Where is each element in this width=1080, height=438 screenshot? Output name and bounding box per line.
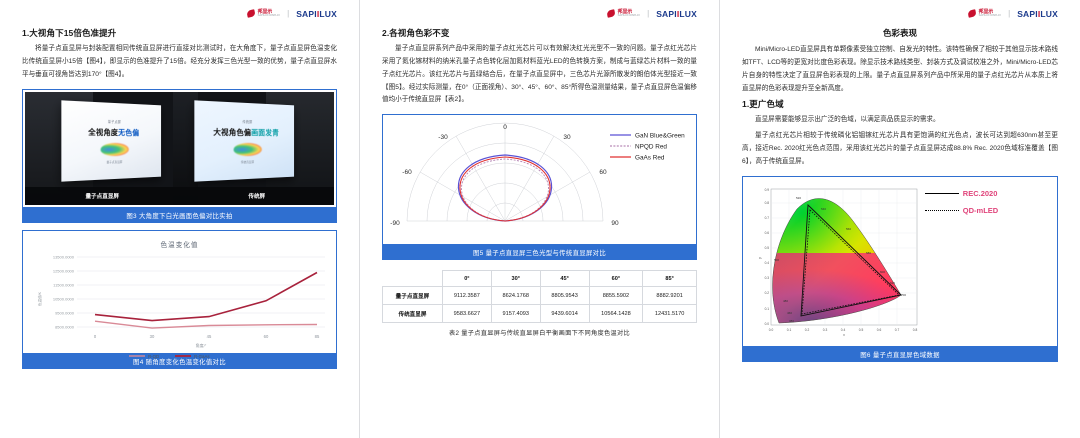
wl-label-560: 560 — [846, 227, 851, 231]
y-tick-2: 10500.0000 — [53, 296, 75, 301]
cct-angle-table: 0° 30° 45° 60° 85° 量子点直显屏 9112.3587 8624… — [382, 270, 697, 323]
cie-y-axis-label: y — [758, 257, 762, 259]
cell-trad-4: 12431.5170 — [643, 305, 697, 323]
figure-6-chart: 520 540 560 580 600 620 700 500 480 460 … — [745, 179, 1055, 344]
cell-trad-3: 10564.1428 — [589, 305, 643, 323]
cie-y-tick-8: 0.9 — [765, 188, 770, 192]
cell-qd-3: 8855.5902 — [589, 287, 643, 305]
figure-3: 量子点屏 全视角度无色偏 量子点直显屏 传统屏 大视角色偏画面发青 传统直显屏 … — [22, 89, 337, 223]
company-name-cn-3: 邦显示 SAPILUX DISPLAY — [979, 10, 1001, 18]
table-header-blank — [383, 271, 443, 287]
cie-x-tick-6: 0.6 — [877, 328, 882, 332]
cie-legend: REC.2020 QD-mLED — [925, 179, 1055, 344]
cie-legend-item-rec2020: REC.2020 — [925, 189, 1055, 198]
table-header-85deg: 85° — [643, 271, 697, 287]
cie-x-tick-5: 0.5 — [859, 328, 864, 332]
cell-qd-4: 8882.9201 — [643, 287, 697, 305]
table-header-60deg: 60° — [589, 271, 643, 287]
brand-header: 邦显示 SAPILUX DISPLAY | SAPIILUX — [22, 6, 337, 21]
table-header-30deg: 30° — [491, 271, 540, 287]
screen-qd-color-blob — [100, 142, 128, 155]
figure-6: 520 540 560 580 600 620 700 500 480 460 … — [742, 176, 1058, 362]
cie-y-tick-2: 0.3 — [765, 276, 770, 280]
brand-wordmark-3: SAPIILUX — [1017, 9, 1058, 19]
x-tick-2: 45 — [207, 334, 212, 339]
company-logo-2: 邦显示 SAPILUX DISPLAY — [607, 9, 640, 18]
section-subheading-3: 1.更广色域 — [742, 98, 1058, 110]
cie-y-tick-3: 0.4 — [765, 261, 770, 265]
wl-label-600: 600 — [880, 270, 885, 274]
figure-3-photo: 量子点屏 全视角度无色偏 量子点直显屏 传统屏 大视角色偏画面发青 传统直显屏 … — [25, 92, 334, 205]
cie-y-tick-6: 0.7 — [765, 216, 770, 220]
polar-tick-neg90: -90 — [390, 220, 400, 227]
screen-qd-small-label: 量子点屏 — [108, 118, 121, 123]
wl-label-700: 700 — [901, 293, 906, 297]
legend-label-r-qd: R-QD — [148, 354, 159, 359]
polar-tick-neg30: -30 — [438, 134, 448, 141]
brand-wordmark: SAPIILUX — [296, 9, 337, 19]
document-page-1: 邦显示 SAPILUX DISPLAY | SAPIILUX 1.大视角下15倍… — [0, 0, 360, 438]
cie-x-axis-label: x — [843, 333, 845, 337]
figure-3-caption: 图3 大角度下白光画面色偏对比实拍 — [22, 208, 337, 223]
legend-label-gaas: GaAs Red — [635, 155, 665, 162]
figure-3-frame: 量子点屏 全视角度无色偏 量子点直显屏 传统屏 大视角色偏画面发青 传统直显屏 … — [22, 89, 337, 208]
x-tick-1: 30 — [150, 334, 155, 339]
polar-tick-30: 30 — [563, 134, 571, 141]
cie-y-tick-5: 0.6 — [765, 231, 770, 235]
legend-label-r-gaas: R-GaAs — [194, 354, 210, 359]
cie-x-tick-2: 0.2 — [805, 328, 810, 332]
table-2: 0° 30° 45° 60° 85° 量子点直显屏 9112.3587 8624… — [382, 270, 697, 339]
swoosh-icon — [968, 9, 977, 18]
screen-trad-color-blob — [233, 142, 261, 155]
photo-label-qd: 量子点直显屏 — [25, 192, 180, 200]
cie-y-tick-1: 0.2 — [765, 291, 770, 295]
legend-label-gan: GaN Blue&Green — [635, 133, 685, 140]
table-header-45deg: 45° — [540, 271, 589, 287]
x-tick-3: 60 — [264, 334, 269, 339]
cie-y-tick-7: 0.8 — [765, 201, 770, 205]
cct-line-chart-svg: 13500.0000 12500.0000 11500.0000 10500.0… — [25, 249, 337, 349]
wl-label-460: 460 — [787, 311, 792, 315]
figure-4-frame: 色温变化值 13500.0000 12500.0000 11500.0000 — [22, 230, 337, 354]
cie-plot-area: 520 540 560 580 600 620 700 500 480 460 … — [745, 179, 925, 344]
figure-4: 色温变化值 13500.0000 12500.0000 11500.0000 — [22, 230, 337, 369]
screen-qd-headline: 全视角度无色偏 — [88, 126, 139, 138]
section-paragraph-1: 将量子点直显屏与封装配置相同传统直显屏进行直接对比测试时，在大角度下，量子点直显… — [22, 43, 337, 82]
polar-chart-svg: -90 -60 -30 0 30 60 90 GaN Blue&Green — [385, 117, 695, 238]
photo-screen-traditional: 传统屏 大视角色偏画面发青 传统直显屏 — [194, 100, 294, 181]
wl-label-380: 380 — [789, 319, 794, 323]
x-tick-4: 85 — [315, 334, 320, 339]
wl-label-480: 480 — [783, 299, 788, 303]
cie-x-tick-4: 0.4 — [841, 328, 846, 332]
polar-legend: GaN Blue&Green NPQD Red GaAs Red — [610, 133, 685, 162]
legend-label-npqd: NPQD Red — [635, 144, 667, 151]
cell-trad-2: 9439.6014 — [540, 305, 589, 323]
polar-tick-0: 0 — [503, 124, 507, 131]
section-paragraph-3b: 直显屏需要能够显示出广泛的色域，以满足高品质显示的需求。 — [742, 114, 1058, 127]
legend-label-rec2020: REC.2020 — [963, 189, 998, 198]
photo-screen-qd: 量子点屏 全视角度无色偏 量子点直显屏 — [61, 100, 161, 181]
cell-qd-0: 9112.3587 — [442, 287, 491, 305]
y-tick-0: 8500.0000 — [55, 324, 75, 329]
cell-trad-1: 9157.4093 — [491, 305, 540, 323]
wl-label-500: 500 — [774, 258, 779, 262]
cie-legend-item-qdmled: QD-mLED — [925, 206, 1055, 215]
wl-label-580: 580 — [866, 251, 871, 255]
brand-header-3: 邦显示 SAPILUX DISPLAY | SAPIILUX — [742, 6, 1058, 21]
section-heading-1: 1.大视角下15倍色准提升 — [22, 27, 337, 39]
cie-x-tick-3: 0.3 — [823, 328, 828, 332]
wl-label-620: 620 — [890, 281, 895, 285]
polar-tick-60: 60 — [599, 169, 607, 176]
brand-divider: | — [287, 9, 289, 18]
brand-divider-3: | — [1008, 9, 1010, 18]
company-name-cn: 邦显示 SAPILUX DISPLAY — [258, 10, 280, 18]
cie-diagram-svg: 520 540 560 580 600 620 700 500 480 460 … — [749, 183, 924, 338]
company-logo-3: 邦显示 SAPILUX DISPLAY — [968, 9, 1001, 18]
brand-header-2: 邦显示 SAPILUX DISPLAY | SAPIILUX — [382, 6, 697, 21]
polar-tick-neg60: -60 — [402, 169, 412, 176]
table-header-row: 0° 30° 45° 60° 85° — [383, 271, 697, 287]
section-paragraph-2: 量子点直显屏系列产品中采用的量子点红光芯片可以有效解决红光光型不一致的问题。量子… — [382, 43, 697, 107]
legend-label-qdmled: QD-mLED — [963, 206, 998, 215]
cell-qd-1: 8624.1768 — [491, 287, 540, 305]
screen-trad-headline: 大视角色偏画面发青 — [213, 125, 279, 137]
cie-x-tick-7: 0.7 — [895, 328, 900, 332]
row-label-qd: 量子点直显屏 — [383, 287, 443, 305]
chart-title-cct: 色温变化值 — [25, 233, 334, 249]
figure-5: -90 -60 -30 0 30 60 90 GaN Blue&Green — [382, 114, 697, 260]
section-paragraph-3: Mini/Micro-LED直显屏具有单颗像素受独立控制、自发光的特性。该特性确… — [742, 44, 1058, 95]
row-label-traditional: 传统直显屏 — [383, 305, 443, 323]
legend-swatch-rec2020 — [925, 193, 959, 194]
y-tick-5: 13500.0000 — [53, 254, 75, 259]
figure-5-chart: -90 -60 -30 0 30 60 90 GaN Blue&Green — [385, 117, 694, 242]
y-tick-3: 11500.0000 — [53, 282, 75, 287]
document-page-2: 邦显示 SAPILUX DISPLAY | SAPIILUX 2.各视角色彩不变… — [360, 0, 720, 438]
photo-caption-strip: 量子点直显屏 传统屏 — [25, 187, 334, 205]
legend-swatch-qdmled — [925, 210, 959, 211]
brand-wordmark-2: SAPIILUX — [656, 9, 697, 19]
section-heading-2: 2.各视角色彩不变 — [382, 27, 697, 39]
cie-x-tick-0: 0.0 — [769, 328, 774, 332]
swoosh-icon — [607, 9, 616, 18]
y-axis-label: 色温值/K — [37, 291, 42, 306]
wl-label-520: 520 — [796, 196, 801, 200]
document-page-3: 邦显示 SAPILUX DISPLAY | SAPIILUX 色彩表现 Mini… — [720, 0, 1080, 438]
table-row: 传统直显屏 9583.6627 9157.4093 9439.6014 1056… — [383, 305, 697, 323]
section-paragraph-3c: 量子点红光芯片相较于传统磷化铝铟镓红光芯片具有更饱满的红光色点，波长可达到超63… — [742, 130, 1058, 169]
screen-trad-small-label: 传统屏 — [242, 118, 252, 123]
figure-5-caption: 图5 量子点直显屏三色光型与传统直显屏对比 — [382, 245, 697, 260]
cell-trad-0: 9583.6627 — [442, 305, 491, 323]
cell-qd-2: 8805.9543 — [540, 287, 589, 305]
table-row: 量子点直显屏 9112.3587 8624.1768 8805.9543 885… — [383, 287, 697, 305]
screen-trad-foot-label: 传统直显屏 — [241, 159, 254, 163]
section-heading-3: 色彩表现 — [742, 27, 1058, 39]
cie-x-tick-8: 0.8 — [913, 328, 918, 332]
photo-label-traditional: 传统屏 — [180, 192, 335, 200]
company-name-cn-2: 邦显示 SAPILUX DISPLAY — [618, 10, 640, 18]
cie-y-tick-0: 0.1 — [765, 307, 770, 311]
swoosh-icon — [247, 9, 256, 18]
figure-5-frame: -90 -60 -30 0 30 60 90 GaN Blue&Green — [382, 114, 697, 245]
cct-chart-legend: R-QD R-GaAs — [25, 349, 337, 365]
wl-label-540: 540 — [821, 207, 826, 211]
screen-qd-foot-label: 量子点直显屏 — [107, 159, 123, 163]
x-axis-label: 角度/° — [196, 342, 207, 348]
figure-4-chart: 色温变化值 13500.0000 12500.0000 11500.0000 — [25, 233, 334, 351]
figure-6-caption: 图6 量子点直显屏色域数据 — [742, 347, 1058, 362]
brand-divider-2: | — [647, 9, 649, 18]
company-logo: 邦显示 SAPILUX DISPLAY — [247, 9, 280, 18]
table-header-0deg: 0° — [442, 271, 491, 287]
polar-tick-90: 90 — [611, 220, 619, 227]
figure-6-frame: 520 540 560 580 600 620 700 500 480 460 … — [742, 176, 1058, 347]
y-tick-4: 12500.0000 — [53, 268, 75, 273]
cie-y-tick-00: 0.0 — [765, 322, 770, 326]
table-2-caption: 表2 量子点直显屏与传统直显屏白平衡画面下不同角度色温对比 — [382, 323, 697, 339]
series-line-r-gaas — [95, 272, 317, 320]
cie-x-tick-1: 0.1 — [787, 328, 792, 332]
cie-y-tick-4: 0.5 — [765, 246, 770, 250]
y-tick-1: 9500.0000 — [55, 310, 75, 315]
x-tick-0: 0 — [94, 334, 97, 339]
